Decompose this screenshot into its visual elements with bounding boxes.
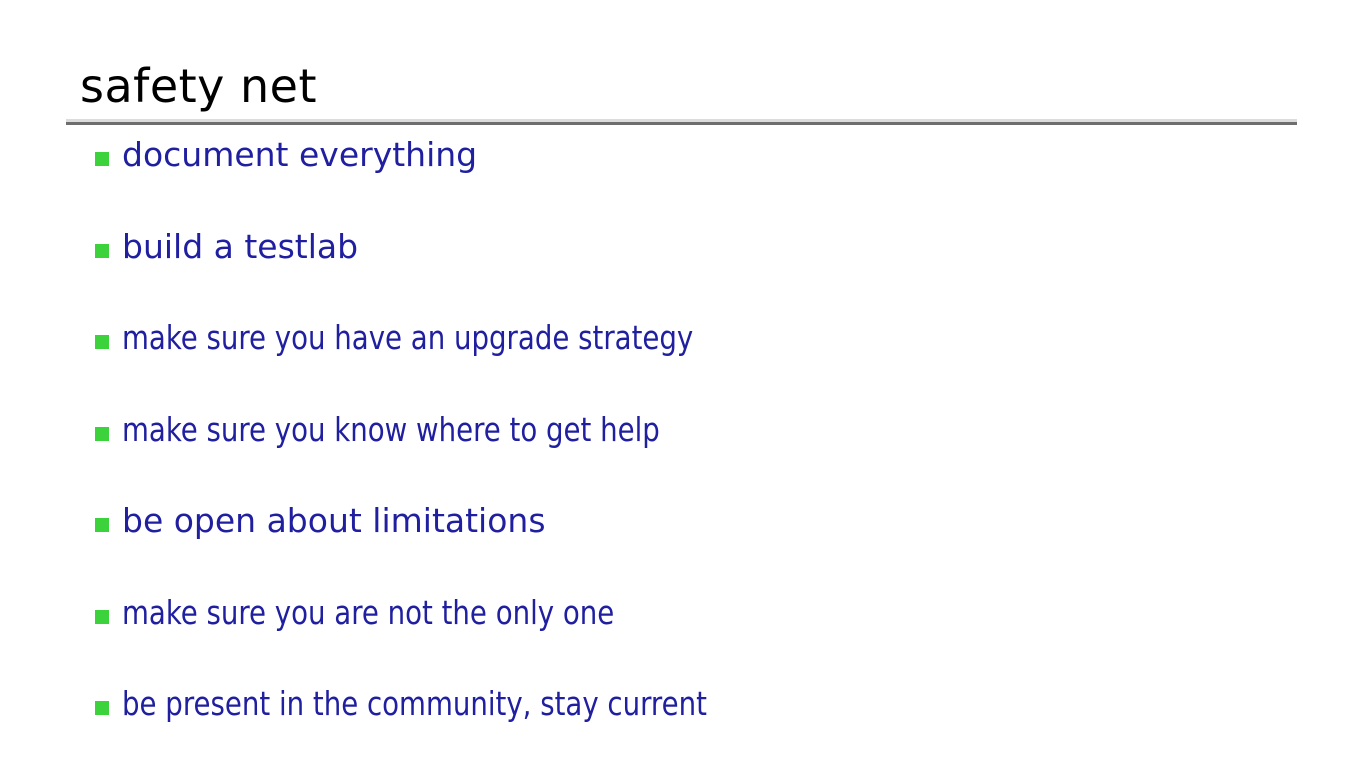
list-item: be open about limitations: [0, 498, 1366, 590]
divider-shadow: [66, 122, 1297, 125]
list-item-label: be present in the community, stay curren…: [122, 681, 707, 727]
title-divider: [66, 119, 1297, 125]
list-item-label: be open about limitations: [122, 498, 546, 544]
square-bullet-icon: [95, 518, 109, 532]
list-item-label: make sure you know where to get help: [122, 407, 660, 453]
square-bullet-icon: [95, 152, 109, 166]
square-bullet-icon: [95, 335, 109, 349]
list-item: be present in the community, stay curren…: [0, 681, 1366, 773]
page-title: safety net: [80, 58, 317, 114]
list-item: make sure you are not the only one: [0, 590, 1366, 682]
square-bullet-icon: [95, 244, 109, 258]
list-item-label: make sure you are not the only one: [122, 590, 614, 636]
presentation-slide: safety net document everything build a t…: [0, 0, 1366, 768]
list-item-label: make sure you have an upgrade strategy: [122, 315, 693, 361]
list-item: build a testlab: [0, 224, 1366, 316]
square-bullet-icon: [95, 610, 109, 624]
list-item: document everything: [0, 132, 1366, 224]
bullet-list: document everything build a testlab make…: [0, 132, 1366, 773]
list-item: make sure you know where to get help: [0, 407, 1366, 499]
list-item-label: document everything: [122, 132, 477, 178]
list-item: make sure you have an upgrade strategy: [0, 315, 1366, 407]
square-bullet-icon: [95, 701, 109, 715]
list-item-label: build a testlab: [122, 224, 358, 270]
square-bullet-icon: [95, 427, 109, 441]
